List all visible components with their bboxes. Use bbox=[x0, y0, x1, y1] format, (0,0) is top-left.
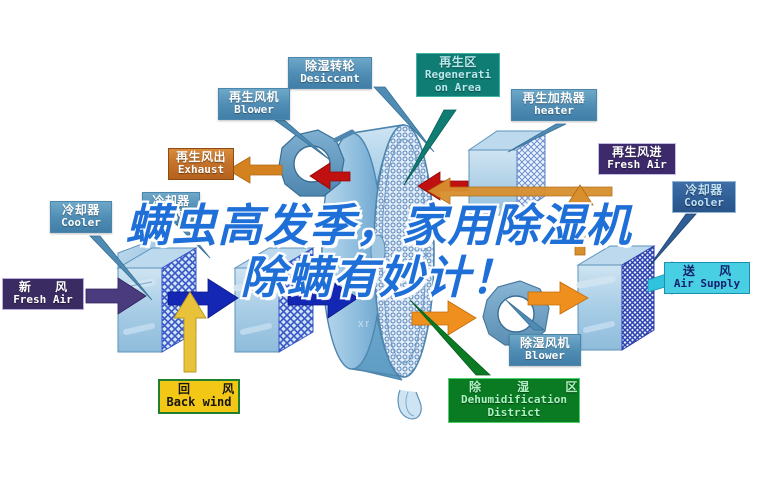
label-air-supply-cn: 送 风 bbox=[669, 265, 745, 278]
label-cooler-left-upper: 冷却器 Cooler bbox=[142, 192, 200, 224]
label-desiccant-rotor: 除湿转轮 Desiccant bbox=[288, 57, 372, 89]
label-cooler-right: 冷却器 Cooler bbox=[672, 181, 736, 213]
label-back-wind: 回 风 Back wind bbox=[158, 379, 240, 414]
label-fresh-air-inlet-en: Fresh Air bbox=[7, 294, 79, 306]
label-dehumidification-blower-en: Blower bbox=[514, 350, 576, 362]
label-regeneration-heater: 再生加热器 heater bbox=[511, 89, 597, 121]
label-cooler-left-en: Cooler bbox=[55, 217, 107, 229]
label-regeneration-fresh-air: 再生风进 Fresh Air bbox=[598, 143, 676, 175]
label-dehumidification-district-en-2: District bbox=[453, 407, 575, 420]
label-back-wind-en: Back wind bbox=[164, 396, 234, 409]
label-regeneration-area-cn: 再生区 bbox=[421, 56, 495, 69]
label-cooler-left-upper-en: Cooler bbox=[147, 208, 195, 220]
label-regeneration-blower: 再生风机 Blower bbox=[218, 88, 290, 120]
label-regeneration-area-en-2: on Area bbox=[421, 82, 495, 94]
label-regeneration-fresh-air-cn: 再生风进 bbox=[603, 146, 671, 159]
label-fresh-air-inlet: 新 风 Fresh Air bbox=[2, 278, 84, 310]
label-cooler-left: 冷却器 Cooler bbox=[50, 201, 112, 233]
label-exhaust-cn: 再生风出 bbox=[173, 151, 229, 164]
label-regeneration-area-en-1: Regenerati bbox=[421, 69, 495, 81]
label-regeneration-blower-en: Blower bbox=[223, 104, 285, 116]
watermark-text: xr bbox=[358, 318, 371, 330]
label-regeneration-heater-cn: 再生加热器 bbox=[516, 92, 592, 105]
label-cooler-right-cn: 冷却器 bbox=[677, 184, 731, 197]
label-cooler-left-cn: 冷却器 bbox=[55, 204, 107, 217]
label-air-supply: 送 风 Air Supply bbox=[664, 262, 750, 294]
label-cooler-right-en: Cooler bbox=[677, 197, 731, 209]
label-dehumidification-district-cn: 除 湿 区 bbox=[453, 381, 575, 394]
label-back-wind-cn: 回 风 bbox=[164, 383, 234, 396]
label-dehumidification-district: 除 湿 区 Dehumidification District bbox=[448, 378, 580, 423]
diagram-graphics bbox=[0, 0, 757, 488]
label-dehumidification-blower: 除湿风机 Blower bbox=[509, 334, 581, 366]
dehumidifier-diagram-image: xr 除湿转轮 Desiccant 再生风机 Blower 再生区 Regene… bbox=[0, 0, 757, 488]
label-exhaust-en: Exhaust bbox=[173, 164, 229, 176]
label-regeneration-area: 再生区 Regenerati on Area bbox=[416, 53, 500, 97]
label-exhaust: 再生风出 Exhaust bbox=[168, 148, 234, 180]
label-fresh-air-inlet-cn: 新 风 bbox=[7, 281, 79, 294]
label-dehumidification-blower-cn: 除湿风机 bbox=[514, 337, 576, 350]
arrow-exhaust bbox=[228, 157, 282, 183]
label-cooler-left-upper-cn: 冷却器 bbox=[147, 195, 195, 208]
label-desiccant-rotor-en: Desiccant bbox=[293, 73, 367, 85]
label-regeneration-heater-en: heater bbox=[516, 105, 592, 117]
label-regeneration-blower-cn: 再生风机 bbox=[223, 91, 285, 104]
label-regeneration-fresh-air-en: Fresh Air bbox=[603, 159, 671, 171]
label-air-supply-en: Air Supply bbox=[669, 278, 745, 290]
label-desiccant-rotor-cn: 除湿转轮 bbox=[293, 60, 367, 73]
